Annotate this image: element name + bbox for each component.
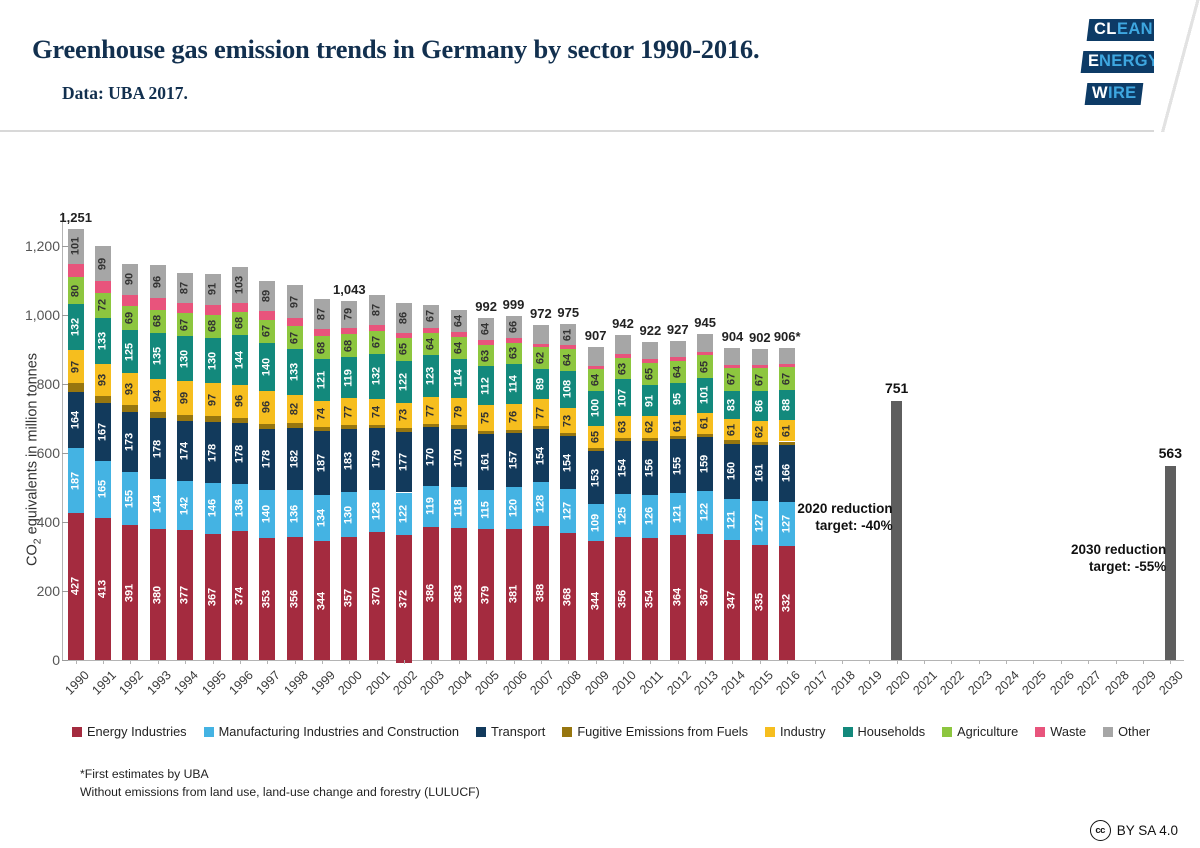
bar-segment[interactable]: 114 <box>451 359 467 398</box>
bar-segment[interactable]: 83 <box>724 391 740 420</box>
bar-segment[interactable]: 388 <box>533 526 549 660</box>
legend-item-0[interactable]: Energy Industries <box>72 724 187 739</box>
bar-segment[interactable]: 69 <box>122 306 138 330</box>
legend-label: Fugitive Emissions from Fuels <box>577 724 748 739</box>
legend-item-4[interactable]: Industry <box>765 724 826 739</box>
legend-label: Households <box>858 724 926 739</box>
bar-segment[interactable]: 136 <box>232 484 248 531</box>
bar-segment[interactable] <box>779 348 795 365</box>
x-tick-label-2002: 2002 <box>385 668 420 703</box>
segment-value-label: 170 <box>426 447 437 465</box>
target-bar-2030[interactable] <box>1165 466 1176 660</box>
bar-segment[interactable]: 67 <box>369 331 385 354</box>
bar-segment[interactable]: 146 <box>205 483 221 533</box>
y-tick-label: 0 <box>12 653 60 667</box>
x-tick-label-2019: 2019 <box>850 668 885 703</box>
bar-segment[interactable]: 100 <box>588 391 604 425</box>
x-tick-mark <box>1170 660 1171 664</box>
bar-segment[interactable]: 76 <box>506 404 522 430</box>
bar-segment[interactable]: 68 <box>150 310 166 333</box>
bar-segment[interactable]: 96 <box>232 385 248 418</box>
bar-segment[interactable] <box>752 349 768 365</box>
bar-segment[interactable]: 97 <box>68 350 84 383</box>
bar-segment[interactable]: 64 <box>670 361 686 383</box>
bar-segment[interactable]: 130 <box>177 336 193 381</box>
bar-segment[interactable]: 67 <box>177 313 193 336</box>
bar-segment[interactable]: 103 <box>232 267 248 302</box>
bar-total-label-2007: 972 <box>530 306 552 321</box>
bar-segment[interactable]: 67 <box>287 326 303 349</box>
bar-segment[interactable]: 61 <box>779 420 795 441</box>
bar-segment[interactable]: 109 <box>588 504 604 542</box>
bar-segment[interactable]: 96 <box>259 391 275 424</box>
bar-2007[interactable]: 628977154128388 <box>533 325 549 660</box>
bar-segment[interactable] <box>670 341 686 358</box>
x-tick-mark <box>951 660 952 664</box>
bar-segment[interactable]: 132 <box>369 354 385 399</box>
bar-segment[interactable]: 381 <box>506 529 522 660</box>
bar-segment[interactable]: 112 <box>478 366 494 405</box>
bar-1995[interactable]: 916813097178146367 <box>205 274 221 660</box>
segment-value-label: 155 <box>125 489 136 507</box>
bar-segment[interactable] <box>697 334 713 352</box>
bar-segment[interactable] <box>615 335 631 354</box>
bar-segment[interactable]: 61 <box>560 324 576 345</box>
bar-segment[interactable]: 67 <box>259 320 275 343</box>
bar-segment[interactable]: 68 <box>341 334 357 357</box>
bar-segment[interactable]: 89 <box>259 281 275 312</box>
segment-value-label: 132 <box>371 367 382 385</box>
bar-segment[interactable]: 173 <box>122 412 138 472</box>
bar-segment[interactable]: 64 <box>423 333 439 355</box>
bar-segment[interactable]: 347 <box>724 540 740 660</box>
bar-segment[interactable]: 332 <box>779 546 795 660</box>
segment-value-label: 65 <box>399 343 410 355</box>
bar-segment[interactable]: 90 <box>122 264 138 295</box>
bar-2013[interactable]: 6510161159122367 <box>697 334 713 660</box>
segment-value-label: 154 <box>563 454 574 472</box>
segment-value-label: 73 <box>399 409 410 421</box>
bar-segment[interactable]: 61 <box>697 413 713 434</box>
bar-segment[interactable]: 364 <box>670 535 686 660</box>
bar-2002[interactable]: 866512273177122372 <box>396 303 412 660</box>
segment-value-label: 161 <box>754 464 765 482</box>
segment-value-label: 68 <box>152 315 163 327</box>
bar-segment[interactable]: 144 <box>232 335 248 385</box>
segment-value-label: 347 <box>727 591 738 609</box>
bar-1994[interactable]: 876713099174142377 <box>177 273 193 660</box>
segment-value-label: 91 <box>207 283 218 295</box>
bar-segment[interactable]: 63 <box>478 345 494 367</box>
segment-value-label: 154 <box>618 459 629 477</box>
bar-segment[interactable]: 178 <box>232 423 248 484</box>
bar-segment[interactable]: 174 <box>177 421 193 481</box>
bar-2005[interactable]: 646311275161115379 <box>478 318 494 660</box>
bar-segment[interactable]: 93 <box>122 373 138 405</box>
segment-value-label: 153 <box>590 468 601 486</box>
bar-2010[interactable]: 6310763154125356 <box>615 335 631 660</box>
legend-item-1[interactable]: Manufacturing Industries and Constructio… <box>204 724 459 739</box>
segment-value-label: 178 <box>152 440 163 458</box>
segment-value-label: 167 <box>98 423 109 441</box>
bar-segment[interactable] <box>314 329 330 336</box>
bar-2003[interactable]: 676412377170119386 <box>423 305 439 660</box>
target-bar-2020[interactable] <box>891 401 902 660</box>
x-tick-label-2007: 2007 <box>521 668 556 703</box>
bar-segment[interactable]: 161 <box>478 434 494 489</box>
bar-segment[interactable]: 68 <box>232 312 248 335</box>
bar-segment[interactable]: 386 <box>423 527 439 660</box>
legend-label: Energy Industries <box>87 724 187 739</box>
legend-item-7[interactable]: Waste <box>1035 724 1086 739</box>
bar-segment[interactable]: 61 <box>724 419 740 440</box>
bar-segment[interactable]: 65 <box>588 426 604 448</box>
x-tick-label-2012: 2012 <box>658 668 693 703</box>
bar-segment[interactable]: 370 <box>369 532 385 660</box>
bar-segment[interactable]: 377 <box>177 530 193 660</box>
bar-segment[interactable]: 344 <box>314 541 330 660</box>
bar-segment[interactable]: 144 <box>150 479 166 529</box>
bar-segment[interactable]: 367 <box>697 534 713 660</box>
logo-line-wire: WIRE <box>1085 83 1144 105</box>
bar-segment[interactable]: 178 <box>205 422 221 483</box>
bar-segment[interactable]: 187 <box>68 448 84 512</box>
bar-segment[interactable]: 61 <box>670 415 686 436</box>
bar-segment[interactable]: 133 <box>287 349 303 395</box>
bar-segment[interactable]: 93 <box>95 364 111 396</box>
bar-segment[interactable]: 367 <box>205 534 221 660</box>
segment-value-label: 87 <box>180 282 191 294</box>
bar-segment[interactable]: 130 <box>341 492 357 537</box>
bar-segment[interactable]: 182 <box>287 428 303 491</box>
legend-item-2[interactable]: Transport <box>476 724 545 739</box>
segment-value-label: 73 <box>563 415 574 427</box>
bar-segment[interactable] <box>259 311 275 319</box>
segment-value-label: 154 <box>535 446 546 464</box>
bar-segment[interactable] <box>68 383 84 392</box>
segment-value-label: 170 <box>453 449 464 467</box>
bar-segment[interactable]: 87 <box>314 299 330 329</box>
segment-value-label: 77 <box>426 405 437 417</box>
bar-segment[interactable]: 67 <box>752 368 768 391</box>
bar-segment[interactable]: 82 <box>287 395 303 423</box>
bar-segment[interactable]: 121 <box>314 359 330 401</box>
bar-segment[interactable]: 125 <box>122 330 138 373</box>
segment-value-label: 101 <box>70 237 81 255</box>
legend-label: Transport <box>491 724 545 739</box>
bar-segment[interactable]: 335 <box>752 545 768 660</box>
segment-value-label: 166 <box>782 464 793 482</box>
bar-segment[interactable] <box>533 325 549 344</box>
bar-segment[interactable]: 136 <box>287 490 303 537</box>
bar-segment[interactable]: 65 <box>396 338 412 360</box>
bar-segment[interactable]: 67 <box>423 305 439 328</box>
bar-segment[interactable]: 74 <box>369 399 385 425</box>
bar-2012[interactable]: 649561155121364 <box>670 341 686 660</box>
segment-value-label: 178 <box>262 450 273 468</box>
bar-segment[interactable] <box>588 347 604 365</box>
bar-segment[interactable]: 166 <box>779 445 795 502</box>
bar-segment[interactable]: 135 <box>150 333 166 380</box>
bar-segment[interactable]: 160 <box>724 444 740 499</box>
x-tick-label-1993: 1993 <box>138 668 173 703</box>
bar-segment[interactable]: 73 <box>396 403 412 428</box>
bar-segment[interactable]: 89 <box>533 369 549 400</box>
bar-segment[interactable]: 101 <box>68 229 84 264</box>
bar-segment[interactable]: 97 <box>287 285 303 318</box>
bar-segment[interactable]: 91 <box>642 385 658 416</box>
bar-2009[interactable]: 6410065153109344 <box>588 347 604 660</box>
bar-segment[interactable]: 122 <box>396 493 412 535</box>
bar-segment[interactable]: 161 <box>752 445 768 500</box>
bar-1991[interactable]: 997213393167165413 <box>95 246 111 660</box>
bar-segment[interactable]: 77 <box>341 398 357 425</box>
bar-segment[interactable]: 63 <box>615 358 631 380</box>
bar-2000[interactable]: 796811977183130357 <box>341 301 357 660</box>
segment-value-label: 114 <box>453 370 464 388</box>
bar-segment[interactable] <box>150 298 166 309</box>
bar-segment[interactable]: 125 <box>615 494 631 537</box>
bar-1990[interactable]: 1018013297164187427 <box>68 229 84 660</box>
bar-segment[interactable]: 65 <box>642 363 658 385</box>
bar-2011[interactable]: 659162156126354 <box>642 342 658 660</box>
bar-segment[interactable]: 374 <box>232 531 248 660</box>
bar-segment[interactable]: 154 <box>533 429 549 482</box>
bar-segment[interactable]: 121 <box>670 493 686 535</box>
y-tick-mark <box>62 660 68 661</box>
bar-segment[interactable]: 130 <box>205 338 221 383</box>
bar-segment[interactable]: 356 <box>615 537 631 660</box>
segment-value-label: 413 <box>98 580 109 598</box>
bar-segment[interactable]: 368 <box>560 533 576 660</box>
bar-segment[interactable] <box>122 405 138 412</box>
bar-segment[interactable]: 155 <box>670 439 686 492</box>
bar-segment[interactable] <box>177 303 193 313</box>
creative-commons-icon: cc <box>1090 820 1111 841</box>
segment-value-label: 130 <box>344 505 355 523</box>
segment-value-label: 63 <box>618 362 629 374</box>
bar-2001[interactable]: 876713274179123370 <box>369 295 385 660</box>
bar-1992[interactable]: 906912593173155391 <box>122 264 138 660</box>
bar-segment[interactable]: 87 <box>369 295 385 325</box>
bar-segment[interactable]: 413 <box>95 518 111 660</box>
bar-segment[interactable]: 118 <box>451 487 467 528</box>
bar-segment[interactable]: 79 <box>341 301 357 328</box>
bar-segment[interactable]: 187 <box>314 431 330 495</box>
bar-segment[interactable]: 64 <box>478 318 494 340</box>
bar-segment[interactable]: 97 <box>205 383 221 416</box>
bar-segment[interactable]: 108 <box>560 371 576 408</box>
segment-value-label: 96 <box>152 276 163 288</box>
bar-segment[interactable]: 77 <box>423 397 439 424</box>
bar-segment[interactable]: 380 <box>150 529 166 660</box>
segment-value-label: 368 <box>563 587 574 605</box>
bar-segment[interactable]: 344 <box>588 541 604 660</box>
bar-segment[interactable] <box>205 305 221 315</box>
bar-segment[interactable]: 119 <box>341 357 357 398</box>
bar-segment[interactable]: 68 <box>205 315 221 338</box>
bar-segment[interactable]: 153 <box>588 451 604 504</box>
bar-segment[interactable]: 64 <box>451 337 467 359</box>
bar-1998[interactable]: 976713382182136356 <box>287 285 303 660</box>
bar-segment[interactable]: 126 <box>642 495 658 538</box>
bar-segment[interactable]: 133 <box>95 318 111 364</box>
bar-1999[interactable]: 876812174187134344 <box>314 299 330 660</box>
bar-segment[interactable]: 178 <box>259 429 275 490</box>
bar-segment[interactable]: 356 <box>287 537 303 660</box>
bar-total-label-1990: 1,251 <box>59 210 92 225</box>
bar-segment[interactable]: 122 <box>697 491 713 533</box>
bar-segment[interactable]: 119 <box>423 486 439 527</box>
x-tick-label-2023: 2023 <box>959 668 994 703</box>
bar-segment[interactable]: 123 <box>369 490 385 532</box>
bar-segment[interactable]: 132 <box>68 304 84 349</box>
legend-item-6[interactable]: Agriculture <box>942 724 1018 739</box>
bar-segment[interactable]: 95 <box>670 383 686 416</box>
bar-segment[interactable]: 154 <box>615 441 631 494</box>
segment-value-label: 115 <box>481 501 492 519</box>
bar-segment[interactable]: 142 <box>177 481 193 530</box>
bar-segment[interactable]: 63 <box>615 416 631 438</box>
bar-segment[interactable]: 157 <box>506 433 522 487</box>
legend-item-8[interactable]: Other <box>1103 724 1150 739</box>
bar-segment[interactable]: 62 <box>533 347 549 368</box>
legend-swatch-icon <box>72 727 82 737</box>
bar-1996[interactable]: 1036814496178136374 <box>232 267 248 660</box>
bar-segment[interactable]: 80 <box>68 277 84 305</box>
bar-segment[interactable]: 72 <box>95 293 111 318</box>
bar-segment[interactable]: 354 <box>642 538 658 660</box>
bar-segment[interactable]: 67 <box>724 368 740 391</box>
bar-segment[interactable] <box>95 281 111 293</box>
x-tick-mark <box>787 660 788 664</box>
bar-segment[interactable]: 86 <box>752 391 768 421</box>
bar-segment[interactable]: 99 <box>95 246 111 280</box>
bar-2006[interactable]: 666311476157120381 <box>506 316 522 660</box>
bar-segment[interactable]: 164 <box>68 392 84 449</box>
bar-segment[interactable]: 154 <box>560 436 576 489</box>
bar-segment[interactable] <box>232 303 248 312</box>
bar-segment[interactable]: 115 <box>478 490 494 530</box>
bar-2008[interactable]: 616410873154127368 <box>560 324 576 660</box>
bar-segment[interactable]: 372 <box>396 535 412 663</box>
x-tick-label-2011: 2011 <box>631 668 666 703</box>
bar-segment[interactable]: 68 <box>314 336 330 359</box>
bar-total-label-2015: 902 <box>749 330 771 345</box>
bar-segment[interactable]: 140 <box>259 343 275 391</box>
bar-segment[interactable]: 63 <box>506 343 522 365</box>
bar-segment[interactable]: 383 <box>451 528 467 660</box>
segment-value-label: 61 <box>672 420 683 432</box>
bar-segment[interactable]: 165 <box>95 461 111 518</box>
segment-value-label: 374 <box>234 586 245 604</box>
bar-2004[interactable]: 646411479170118383 <box>451 310 467 660</box>
bar-segment[interactable]: 170 <box>423 427 439 486</box>
bar-segment[interactable] <box>122 295 138 307</box>
bar-segment[interactable] <box>642 342 658 359</box>
x-tick-mark <box>1116 660 1117 664</box>
legend-item-3[interactable]: Fugitive Emissions from Fuels <box>562 724 748 739</box>
bar-segment[interactable] <box>95 396 111 404</box>
bar-segment[interactable]: 94 <box>150 379 166 411</box>
bar-1993[interactable]: 966813594178144380 <box>150 265 166 660</box>
bar-segment[interactable]: 170 <box>451 429 467 488</box>
bar-segment[interactable]: 178 <box>150 418 166 479</box>
bar-segment[interactable]: 177 <box>396 432 412 493</box>
bar-segment[interactable]: 77 <box>533 399 549 426</box>
bar-segment[interactable]: 379 <box>478 529 494 660</box>
x-tick-label-1997: 1997 <box>248 668 283 703</box>
bar-segment[interactable]: 123 <box>423 355 439 397</box>
bar-segment[interactable]: 75 <box>478 405 494 431</box>
x-tick-mark <box>541 660 542 664</box>
bar-segment[interactable]: 101 <box>697 378 713 413</box>
bar-segment[interactable]: 183 <box>341 429 357 492</box>
bar-segment[interactable]: 427 <box>68 513 84 660</box>
bar-segment[interactable]: 167 <box>95 403 111 461</box>
bar-segment[interactable]: 120 <box>506 487 522 528</box>
bar-segment[interactable]: 353 <box>259 538 275 660</box>
bar-segment[interactable]: 64 <box>588 369 604 391</box>
bar-segment[interactable]: 91 <box>205 274 221 305</box>
x-tick-label-1998: 1998 <box>275 668 310 703</box>
legend-item-5[interactable]: Households <box>843 724 926 739</box>
bar-segment[interactable]: 155 <box>122 472 138 525</box>
bar-segment[interactable]: 357 <box>341 537 357 660</box>
bar-segment[interactable]: 64 <box>451 310 467 332</box>
bar-segment[interactable]: 179 <box>369 428 385 490</box>
x-tick-label-2029: 2029 <box>1123 668 1158 703</box>
legend-swatch-icon <box>476 727 486 737</box>
bar-segment[interactable]: 107 <box>615 379 631 416</box>
bar-segment[interactable] <box>724 348 740 365</box>
bar-segment[interactable]: 74 <box>314 401 330 427</box>
bar-segment[interactable]: 391 <box>122 525 138 660</box>
bar-segment[interactable]: 65 <box>697 355 713 377</box>
bar-segment[interactable]: 62 <box>752 421 768 442</box>
bar-segment[interactable]: 122 <box>396 361 412 403</box>
bar-segment[interactable]: 127 <box>560 489 576 533</box>
bar-segment[interactable]: 156 <box>642 441 658 495</box>
bar-1997[interactable]: 896714096178140353 <box>259 281 275 660</box>
bar-segment[interactable]: 88 <box>779 390 795 420</box>
bar-segment[interactable]: 73 <box>560 408 576 433</box>
bar-total-label-2016: 906* <box>774 329 801 344</box>
x-tick-label-1992: 1992 <box>111 668 146 703</box>
bar-segment[interactable]: 140 <box>259 490 275 538</box>
bar-segment[interactable]: 159 <box>697 437 713 492</box>
bar-segment[interactable]: 66 <box>506 316 522 339</box>
bar-segment[interactable]: 64 <box>560 349 576 371</box>
bar-segment[interactable]: 67 <box>779 367 795 390</box>
x-tick-label-2017: 2017 <box>795 668 830 703</box>
segment-value-label: 76 <box>508 411 519 423</box>
bar-segment[interactable]: 114 <box>506 364 522 403</box>
bar-segment[interactable]: 134 <box>314 495 330 541</box>
bar-segment[interactable]: 62 <box>642 416 658 437</box>
bar-segment[interactable]: 96 <box>150 265 166 298</box>
x-tick-mark <box>431 660 432 664</box>
bar-segment[interactable]: 79 <box>451 398 467 425</box>
bar-segment[interactable] <box>287 318 303 326</box>
bar-segment[interactable]: 99 <box>177 381 193 415</box>
bar-segment[interactable]: 128 <box>533 482 549 526</box>
bar-segment[interactable]: 87 <box>177 273 193 303</box>
bar-segment[interactable] <box>68 264 84 277</box>
x-tick-label-2015: 2015 <box>740 668 775 703</box>
x-tick-label-2024: 2024 <box>987 668 1022 703</box>
bar-segment[interactable]: 86 <box>396 303 412 333</box>
